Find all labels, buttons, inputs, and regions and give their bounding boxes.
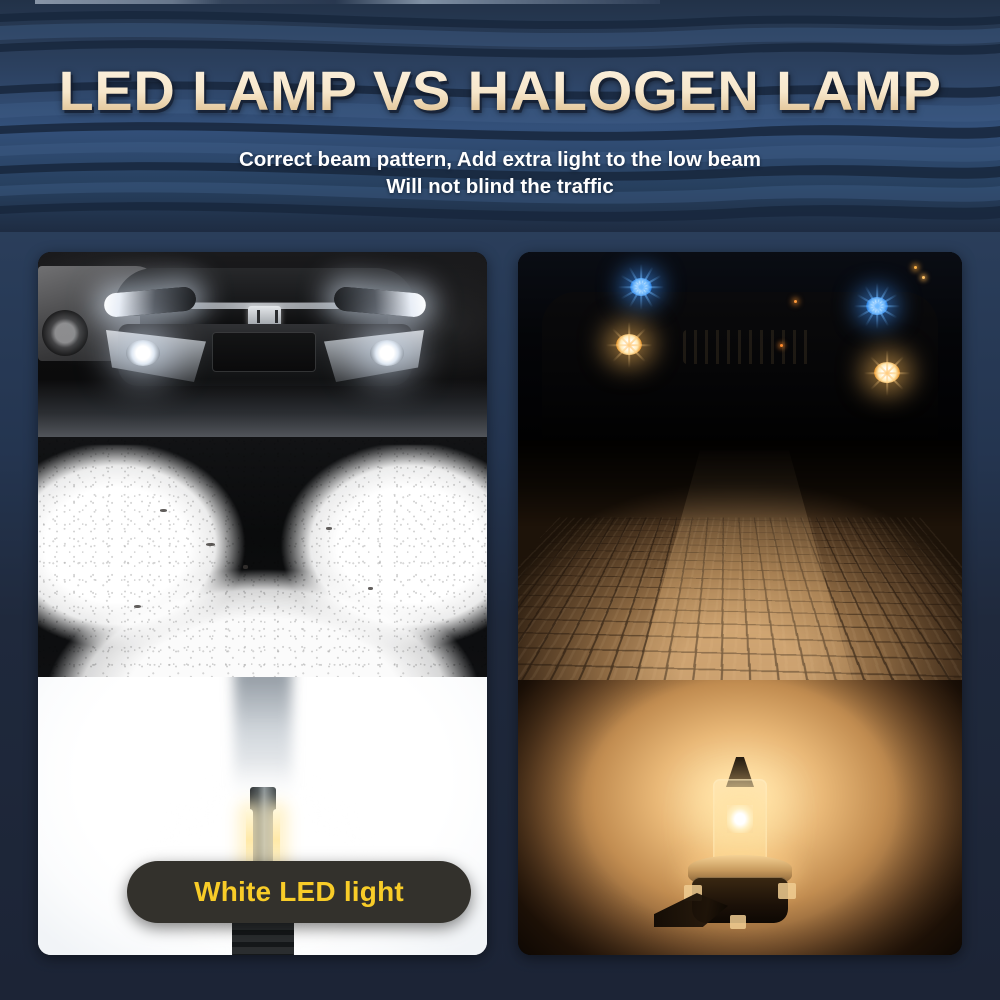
subtitle-line-1: Correct beam pattern, Add extra light to… <box>239 148 761 171</box>
ground-light-haze <box>38 379 487 437</box>
blue-accent-light-left <box>630 278 652 296</box>
led-label-text: White LED light <box>194 876 404 908</box>
page-title: LED LAMP VS HALOGEN LAMP <box>0 58 1000 123</box>
led-car-photo <box>38 252 487 437</box>
page-subtitle: Correct beam pattern, Add extra light to… <box>0 146 1000 200</box>
car-wheel <box>42 310 88 356</box>
blue-accent-light-right <box>866 297 888 315</box>
led-comparison-panel: White LED light <box>38 252 487 955</box>
road-debris <box>206 543 215 546</box>
led-label-pill: White LED light <box>127 861 471 923</box>
road-debris <box>134 605 141 608</box>
road-debris <box>368 587 373 590</box>
halogen-car-photo <box>518 252 962 440</box>
product-comparison-graphic: LED LAMP VS HALOGEN LAMP Correct beam pa… <box>0 0 1000 1000</box>
distant-city-light <box>914 266 917 269</box>
led-beam-pattern-photo <box>38 437 487 677</box>
banner-top-highlight <box>35 0 660 4</box>
halogen-lamp-right <box>874 362 900 383</box>
asphalt-grain-texture <box>38 437 487 677</box>
road-debris <box>160 509 167 512</box>
led-fog-light-right <box>370 340 404 366</box>
license-plate <box>212 332 316 372</box>
distant-city-light <box>922 276 925 279</box>
amber-vignette <box>518 680 962 955</box>
subtitle-line-2: Will not blind the traffic <box>0 173 1000 200</box>
halogen-comparison-panel: yellow halogen lamp <box>518 252 962 955</box>
road-debris <box>243 565 248 569</box>
upper-shadow-gradient <box>518 440 962 526</box>
halogen-lamp-left <box>616 334 642 355</box>
halogen-beam-pattern-photo <box>518 440 962 680</box>
road-debris <box>326 527 332 530</box>
distant-city-light <box>780 344 783 347</box>
faint-grille-detail <box>683 330 813 364</box>
distant-city-light <box>794 300 797 303</box>
halogen-bulb-photo <box>518 680 962 955</box>
led-fog-light-left <box>126 340 160 366</box>
